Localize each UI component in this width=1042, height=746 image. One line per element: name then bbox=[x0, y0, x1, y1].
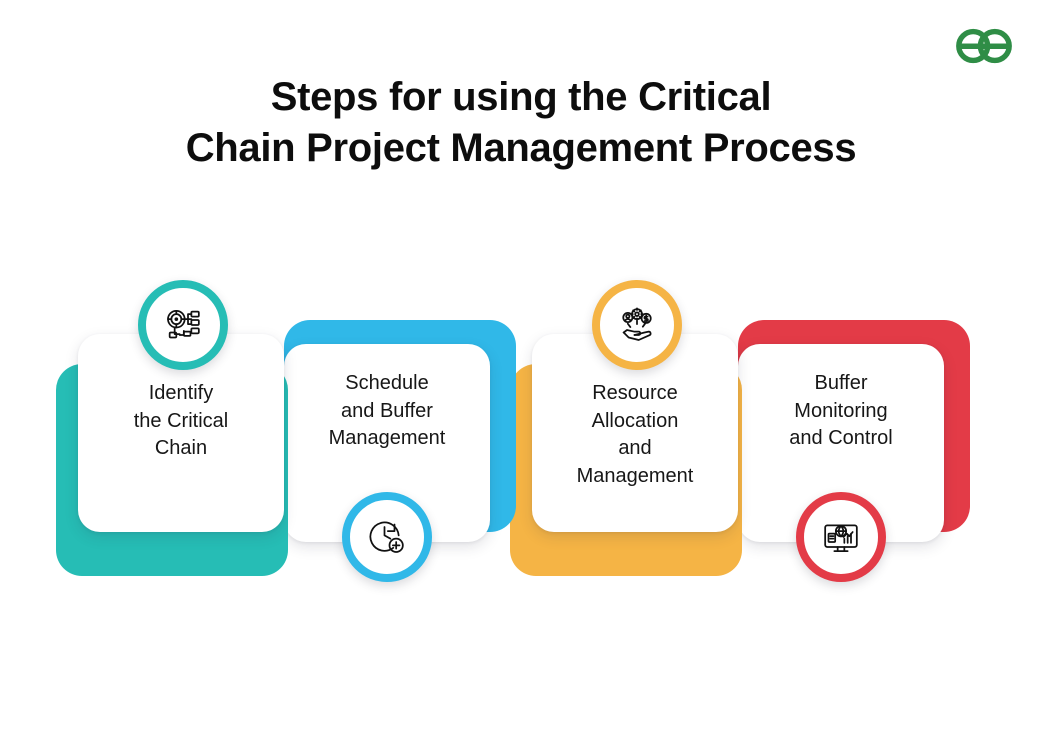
monitor-chart-icon bbox=[821, 517, 861, 557]
title-line-2: Chain Project Management Process bbox=[0, 123, 1042, 174]
step-4-line-3: and Control bbox=[748, 425, 934, 453]
process-chain: Identify the Critical Chain bbox=[0, 268, 1042, 588]
process-step-4: Buffer Monitoring and Control bbox=[738, 268, 974, 588]
title-line-1: Steps for using the Critical bbox=[0, 72, 1042, 123]
step-1-line-1: Identify bbox=[88, 380, 274, 408]
step-2-line-2: and Buffer bbox=[294, 398, 480, 426]
step-3-line-3: and bbox=[542, 435, 728, 463]
step-3-label: Resource Allocation and Management bbox=[542, 380, 728, 490]
step-4-line-1: Buffer bbox=[748, 370, 934, 398]
step-1-line-2: the Critical bbox=[88, 408, 274, 436]
step-3-line-2: Allocation bbox=[542, 408, 728, 436]
target-network-icon bbox=[163, 305, 203, 345]
step-1-icon-badge bbox=[138, 280, 228, 370]
step-4-line-2: Monitoring bbox=[748, 398, 934, 426]
step-1-line-3: Chain bbox=[88, 435, 274, 463]
process-step-3: Resource Allocation and Management bbox=[510, 268, 746, 588]
step-4-label: Buffer Monitoring and Control bbox=[748, 370, 934, 453]
geeksforgeeks-logo bbox=[948, 22, 1020, 70]
step-3-line-4: Management bbox=[542, 463, 728, 491]
infographic-canvas: Steps for using the Critical Chain Proje… bbox=[0, 0, 1042, 746]
step-2-label: Schedule and Buffer Management bbox=[294, 370, 480, 453]
step-2-line-3: Management bbox=[294, 425, 480, 453]
page-title: Steps for using the Critical Chain Proje… bbox=[0, 72, 1042, 174]
step-2-line-1: Schedule bbox=[294, 370, 480, 398]
step-2-icon-badge bbox=[342, 492, 432, 582]
step-3-line-1: Resource bbox=[542, 380, 728, 408]
clock-plus-icon bbox=[367, 517, 407, 557]
process-step-1: Identify the Critical Chain bbox=[56, 268, 292, 588]
process-step-2: Schedule and Buffer Management bbox=[284, 268, 520, 588]
hand-resources-icon bbox=[617, 305, 657, 345]
step-1-label: Identify the Critical Chain bbox=[88, 380, 274, 463]
step-4-icon-badge bbox=[796, 492, 886, 582]
step-3-icon-badge bbox=[592, 280, 682, 370]
